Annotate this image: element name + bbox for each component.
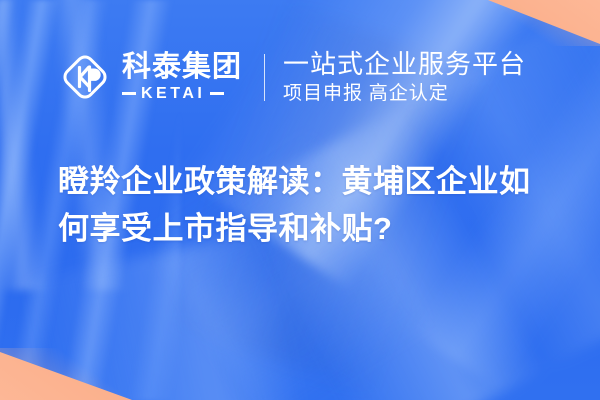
promo-banner: 科泰集团 KETAI 一站式企业服务平台 项目申报 高企认定 瞪羚企业政策解读：… (0, 0, 600, 400)
dash-left-icon (122, 92, 136, 95)
dash-right-icon (210, 92, 224, 95)
brand-wordmark: 科泰集团 KETAI (122, 52, 242, 102)
brand-name-en: KETAI (141, 85, 205, 102)
brand-name-en-row: KETAI (122, 85, 242, 102)
banner-header: 科泰集团 KETAI 一站式企业服务平台 项目申报 高企认定 (58, 44, 526, 110)
tagline-sub: 项目申报 高企认定 (283, 83, 526, 105)
tagline-main: 一站式企业服务平台 (283, 50, 526, 79)
corner-accent-top-right (488, 0, 600, 44)
ketai-diamond-kp-monogram-icon (58, 50, 112, 104)
header-divider (264, 54, 265, 101)
corner-accent-bottom-left (0, 352, 132, 400)
brand-name-cn: 科泰集团 (122, 52, 242, 82)
page-title: 瞪羚企业政策解读：黄埔区企业如何享受上市指导和补贴? (58, 158, 550, 252)
brand-logo[interactable]: 科泰集团 KETAI (58, 50, 242, 104)
tagline-block: 一站式企业服务平台 项目申报 高企认定 (283, 50, 526, 105)
